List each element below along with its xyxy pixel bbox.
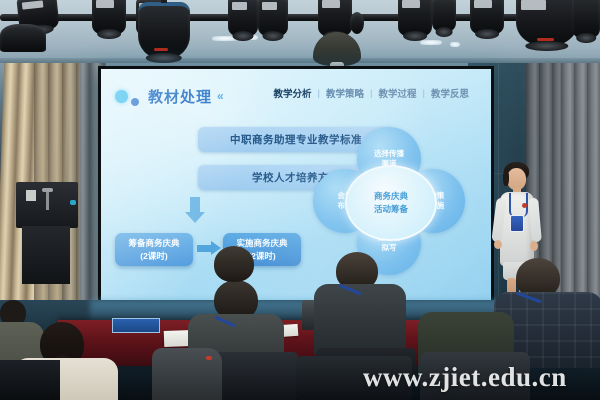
spotlight-stem: [161, 0, 167, 3]
indicator-light: [70, 200, 76, 205]
ceiling: [0, 0, 600, 62]
spotlight-lens: [97, 29, 121, 39]
stage-spotlight: [572, 0, 600, 38]
presenter-hair-side: [503, 170, 509, 186]
tab-teaching-strategy[interactable]: 教学策略: [320, 86, 370, 100]
spotlight-label: [232, 2, 248, 10]
spotlight-lens: [525, 41, 568, 51]
presenter-id-badge: [510, 215, 524, 232]
stage-spotlight: [92, 0, 126, 34]
microphone-icon: [42, 188, 53, 192]
spotlight-lens: [576, 33, 596, 43]
ceiling-edge: [0, 58, 600, 63]
microphone-stand: [46, 192, 49, 210]
lesson-box-preparation: 筹备商务庆典 (2课时): [115, 233, 193, 266]
spotlight-label: [402, 0, 420, 8]
petal-diagram-center: 商务庆典 活动筹备: [345, 165, 437, 241]
lesson-title: 筹备商务庆典: [128, 237, 179, 249]
stage-spotlight: [138, 2, 190, 58]
coat-detail: [206, 356, 212, 360]
stage-spotlight: [318, 0, 352, 36]
spotlight-lens: [263, 31, 284, 41]
spotlight-label: [22, 0, 43, 9]
spotlight-lens: [233, 31, 254, 41]
spotlight-marking: [154, 48, 169, 51]
lighting-truss-bar: [0, 14, 600, 21]
slide-tabs: 教学分析 | 教学策略 | 教学过程 | 教学反思: [268, 86, 475, 100]
projection-screen: 教材处理 « 教学分析 | 教学策略 | 教学过程 | 教学反思 中职商务助理专…: [98, 66, 494, 312]
spotlight-label: [262, 2, 278, 10]
audience-head: [214, 246, 254, 282]
tab-teaching-analysis[interactable]: 教学分析: [268, 86, 318, 100]
foreground-shadow: [0, 360, 60, 400]
stage-spotlight: [470, 0, 504, 34]
spotlight-label: [521, 0, 546, 10]
presentation-photo: 教材处理 « 教学分析 | 教学策略 | 教学过程 | 教学反思 中职商务助理专…: [0, 0, 600, 400]
lesson-hours: (2课时): [140, 250, 167, 262]
arrow-right-icon: [197, 245, 211, 252]
arrow-head: [185, 212, 205, 223]
spotlight-label: [474, 0, 492, 8]
stage-spotlight: [398, 0, 432, 36]
presenter-hand-left: [494, 240, 502, 249]
spotlight-lens: [403, 31, 427, 41]
presenter-hand-right: [530, 241, 538, 251]
stage-spotlight: [0, 24, 46, 52]
petal-line2: 拟写: [378, 243, 401, 253]
stage-spotlight: [516, 0, 578, 46]
spotlight-lens: [436, 27, 453, 37]
decorative-dot-small-icon: [131, 98, 139, 106]
watermark: www.zjiet.edu.cn: [363, 362, 567, 393]
table-nameplate: [112, 318, 160, 333]
presenter-badge-pin: [522, 203, 527, 208]
tab-teaching-reflection[interactable]: 教学反思: [425, 86, 475, 100]
tab-teaching-process[interactable]: 教学过程: [373, 86, 423, 100]
lectern-device: [26, 190, 36, 201]
petal-line1: 选择传播: [374, 149, 404, 159]
decorative-dot-large-icon: [115, 90, 128, 103]
thermos-cup: [302, 300, 314, 330]
center-line2: 活动筹备: [374, 203, 408, 216]
center-line1: 商务庆典: [374, 190, 408, 203]
stage-spotlight: [432, 0, 456, 32]
recessed-ceiling-light: [420, 40, 442, 45]
spotlight-lens: [475, 29, 499, 39]
spotlight-label: [96, 0, 114, 8]
slide-content: 教材处理 « 教学分析 | 教学策略 | 教学过程 | 教学反思 中职商务助理专…: [101, 69, 491, 309]
recessed-ceiling-light: [450, 42, 460, 47]
spotlight-accessory: [350, 12, 364, 34]
slide-title: 教材处理: [148, 86, 212, 107]
arrow-shaft: [190, 197, 200, 213]
stage-spotlight: [228, 0, 258, 36]
stage-spotlight: [258, 0, 288, 36]
petal-diagram: 选择传播 渠道 会场 布置 活动策 划实施: [313, 127, 465, 275]
chevron-left-icon: «: [217, 89, 224, 103]
lectern-body: [22, 226, 70, 284]
spotlight-label: [322, 0, 340, 8]
